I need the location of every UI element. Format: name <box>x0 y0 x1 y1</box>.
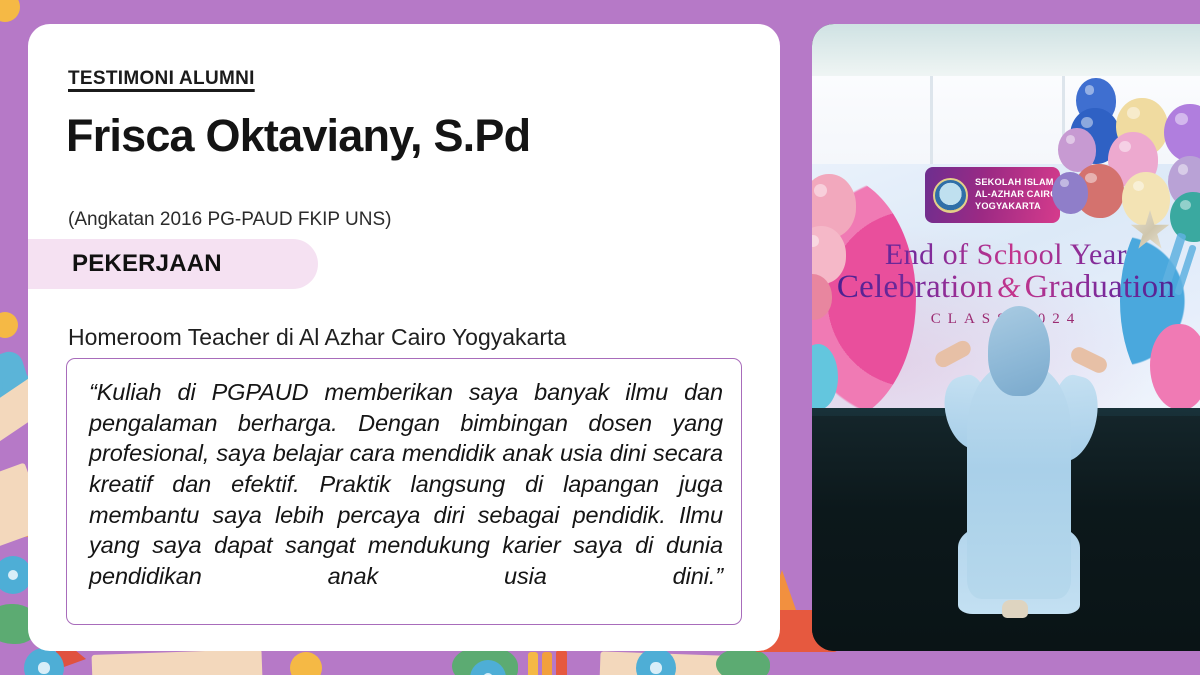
button-doodle-icon <box>0 0 20 22</box>
balloon-cream <box>1122 172 1170 226</box>
pekerjaan-badge-label: PEKERJAAN <box>72 250 222 278</box>
slide-canvas: TESTIMONI ALUMNI Frisca Oktaviany, S.Pd … <box>0 0 1200 675</box>
alumni-job-title: Homeroom Teacher di Al Azhar Cairo Yogya… <box>68 324 566 351</box>
photo-ceiling <box>812 24 1200 82</box>
person-dress <box>967 364 1071 599</box>
quote-text: “Kuliah di PGPAUD memberikan saya banyak… <box>89 377 723 622</box>
balloon-purple-dark <box>1052 172 1088 214</box>
button-doodle-icon <box>290 652 322 675</box>
alumni-photo: SEKOLAH ISLAM AL-AZHAR CAIRO YOGYAKARTA … <box>812 24 1200 651</box>
ruler-doodle-icon <box>92 649 263 675</box>
button-doodle-icon <box>470 660 506 675</box>
banner-title-graduation: Graduation <box>1025 269 1175 305</box>
banner-title-celebration: Celebration <box>837 269 993 305</box>
button-doodle-icon <box>0 312 18 338</box>
pekerjaan-badge: PEKERJAAN <box>28 239 318 289</box>
alumni-name: Frisca Oktaviany, S.Pd <box>66 110 530 162</box>
school-logo-badge: SEKOLAH ISLAM AL-AZHAR CAIRO YOGYAKARTA <box>925 167 1060 223</box>
person-shoe <box>1002 600 1028 618</box>
school-logo-line-3: YOGYAKARTA <box>975 201 1057 213</box>
school-crest-icon <box>933 178 968 213</box>
quote-box: “Kuliah di PGPAUD memberikan saya banyak… <box>66 358 742 625</box>
school-logo-line-1: SEKOLAH ISLAM <box>975 177 1057 189</box>
school-logo-line-2: AL-AZHAR CAIRO <box>975 189 1057 201</box>
pencil-doodle-icon <box>556 650 567 675</box>
pencil-doodle-icon <box>542 652 552 675</box>
pencil-doodle-icon <box>528 652 538 675</box>
alumni-batch: (Angkatan 2016 PG-PAUD FKIP UNS) <box>68 209 391 231</box>
testimonial-card: TESTIMONI ALUMNI Frisca Oktaviany, S.Pd … <box>28 24 780 651</box>
ruler-doodle-icon <box>600 651 751 675</box>
card-eyebrow-label: TESTIMONI ALUMNI <box>68 68 255 90</box>
banner-title-line-1: End of School Year <box>812 238 1200 272</box>
school-logo-text: SEKOLAH ISLAM AL-AZHAR CAIRO YOGYAKARTA <box>975 177 1057 212</box>
blob-doodle-icon <box>716 648 770 675</box>
button-doodle-icon <box>636 648 676 675</box>
banner-ampersand: & <box>993 271 1025 304</box>
person-hijab <box>988 306 1050 396</box>
button-doodle-icon <box>24 648 64 675</box>
banner-title-line-2: Celebration&Graduation <box>812 269 1200 306</box>
